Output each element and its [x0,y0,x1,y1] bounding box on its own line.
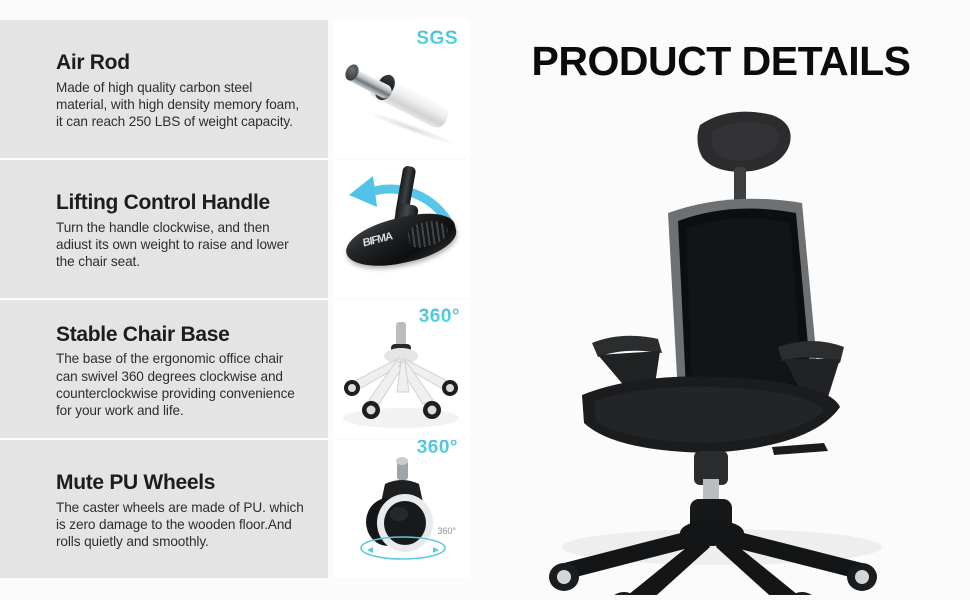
feature-title: Air Rod [56,51,306,75]
page-title: PRODUCT DETAILS [532,38,911,85]
feature-image-chair-base: 360° [333,300,470,438]
feature-item-lifting-handle: Lifting Control Handle Turn the handle c… [0,160,472,298]
rotation-360-label-small: 360° [437,526,456,536]
feature-image-pu-wheel: 360° 360° [333,440,470,578]
feature-title: Mute PU Wheels [56,471,306,495]
feature-title: Lifting Control Handle [56,191,306,215]
sgs-badge: SGS [416,28,458,50]
feature-description: Turn the handle clockwise, and then adiu… [56,219,306,271]
feature-list: Air Rod Made of high quality carbon stee… [0,20,472,578]
feature-text-block: Lifting Control Handle Turn the handle c… [0,160,328,298]
headrest-post [734,167,746,203]
tilt-lever [772,443,828,455]
rotation-360-badge: 360° [419,306,460,328]
feature-item-chair-base: Stable Chair Base The base of the ergono… [0,300,472,438]
chair-hero-image [472,95,970,595]
product-details-page: Air Rod Made of high quality carbon stee… [0,0,970,600]
feature-description: Made of high quality carbon steel materi… [56,79,306,131]
feature-text-block: Air Rod Made of high quality carbon stee… [0,20,328,158]
office-chair-illustration [472,95,970,595]
feature-image-lifting-handle: BIFMA [333,160,470,298]
feature-image-air-rod: SGS [333,20,470,158]
feature-title: Stable Chair Base [56,323,306,347]
rotation-360-badge: 360° [417,440,458,459]
feature-description: The base of the ergonomic office chair c… [56,350,306,419]
lever-handle-illustration: BIFMA [333,160,470,298]
caster-wheel-illustration [333,440,470,578]
feature-item-air-rod: Air Rod Made of high quality carbon stee… [0,20,472,158]
feature-item-pu-wheels: Mute PU Wheels The caster wheels are mad… [0,440,472,578]
feature-description: The caster wheels are made of PU. which … [56,499,306,551]
feature-text-block: Stable Chair Base The base of the ergono… [0,300,328,438]
hero-panel: PRODUCT DETAILS [472,0,970,600]
feature-text-block: Mute PU Wheels The caster wheels are mad… [0,440,328,578]
